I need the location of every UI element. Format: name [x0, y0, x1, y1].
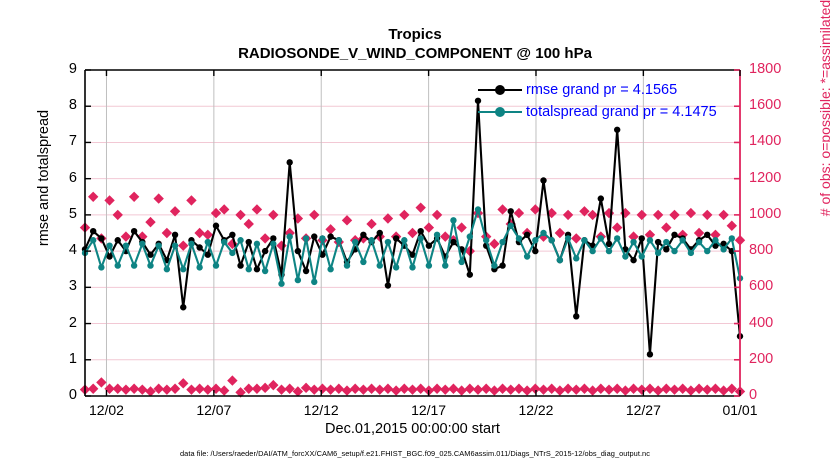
obs-marker: [571, 233, 581, 243]
obs-marker: [628, 384, 638, 394]
series-point: [663, 239, 669, 245]
series-point: [606, 248, 612, 254]
series-point: [229, 232, 235, 238]
obs-marker: [227, 375, 237, 385]
series-point: [671, 248, 677, 254]
series-point: [327, 266, 333, 272]
obs-marker: [604, 384, 614, 394]
series-point: [647, 351, 653, 357]
obs-marker: [350, 384, 360, 394]
series-point: [508, 223, 514, 229]
obs-marker: [88, 192, 98, 202]
series-point: [385, 282, 391, 288]
obs-marker: [235, 210, 245, 220]
obs-marker: [366, 219, 376, 229]
legend: rmse grand pr = 4.1565 totalspread grand…: [478, 79, 717, 123]
series-point: [524, 232, 530, 238]
series-point: [450, 239, 456, 245]
obs-marker: [686, 208, 696, 218]
series-point: [712, 237, 718, 243]
series-point: [491, 262, 497, 268]
series-point: [532, 237, 538, 243]
obs-marker: [194, 228, 204, 238]
obs-marker: [317, 384, 327, 394]
series-point: [573, 313, 579, 319]
series-point: [254, 266, 260, 272]
series-point: [598, 195, 604, 201]
series-point: [360, 259, 366, 265]
obs-marker: [456, 385, 466, 395]
series-point: [295, 277, 301, 283]
obs-marker: [325, 384, 335, 394]
obs-marker: [489, 385, 499, 395]
series-point: [442, 262, 448, 268]
series-point: [246, 239, 252, 245]
obs-marker: [620, 385, 630, 395]
series-point: [426, 242, 432, 248]
obs-marker: [555, 385, 565, 395]
obs-marker: [481, 384, 491, 394]
series-point: [278, 281, 284, 287]
series-point: [663, 246, 669, 252]
series-point: [377, 230, 383, 236]
obs-marker: [113, 384, 123, 394]
series-point: [139, 241, 145, 247]
series-point: [196, 264, 202, 270]
series-point: [516, 235, 522, 241]
obs-marker: [375, 384, 385, 394]
series-point: [589, 248, 595, 254]
series-point: [213, 223, 219, 229]
obs-marker: [497, 204, 507, 214]
obs-marker: [702, 384, 712, 394]
series-point: [270, 241, 276, 247]
obs-marker: [121, 384, 131, 394]
series-point: [639, 235, 645, 241]
obs-marker: [260, 383, 270, 393]
series-point: [467, 233, 473, 239]
series-point: [303, 268, 309, 274]
series-point: [360, 232, 366, 238]
series-line: [85, 101, 740, 355]
obs-marker: [587, 385, 597, 395]
series-point: [286, 233, 292, 239]
series-point: [352, 239, 358, 245]
obs-marker: [399, 210, 409, 220]
series-point: [532, 248, 538, 254]
obs-marker: [514, 208, 524, 218]
obs-marker: [268, 210, 278, 220]
obs-marker: [309, 210, 319, 220]
series-point: [639, 253, 645, 259]
series-point: [499, 262, 505, 268]
obs-marker: [514, 384, 524, 394]
series-point: [90, 228, 96, 234]
obs-marker: [718, 210, 728, 220]
obs-marker: [88, 384, 98, 394]
obs-marker: [399, 384, 409, 394]
obs-marker: [178, 378, 188, 388]
series-point: [696, 239, 702, 245]
obs-marker: [145, 386, 155, 396]
obs-marker: [579, 384, 589, 394]
obs-marker: [268, 380, 278, 390]
obs-marker: [596, 384, 606, 394]
obs-marker: [219, 385, 229, 395]
series-point: [262, 248, 268, 254]
obs-marker: [383, 384, 393, 394]
series-point: [147, 262, 153, 268]
series-point: [630, 239, 636, 245]
obs-marker: [604, 208, 614, 218]
series-point: [254, 241, 260, 247]
series-point: [630, 257, 636, 263]
series-point: [172, 242, 178, 248]
obs-marker: [366, 384, 376, 394]
series-point: [671, 232, 677, 238]
obs-marker: [194, 384, 204, 394]
series-point: [393, 264, 399, 270]
series-point: [598, 235, 604, 241]
obs-marker: [342, 385, 352, 395]
obs-marker: [424, 222, 434, 232]
series-point: [106, 242, 112, 248]
obs-marker: [113, 210, 123, 220]
obs-marker: [506, 384, 516, 394]
obs-marker: [653, 210, 663, 220]
series-point: [115, 237, 121, 243]
series-point: [123, 242, 129, 248]
series-point: [172, 232, 178, 238]
obs-marker: [497, 384, 507, 394]
series-point: [622, 253, 628, 259]
series-point: [720, 246, 726, 252]
series-point: [98, 264, 104, 270]
series-point: [401, 237, 407, 243]
obs-marker: [653, 385, 663, 395]
obs-marker: [186, 384, 196, 394]
series-point: [524, 253, 530, 259]
obs-marker: [710, 384, 720, 394]
obs-marker: [145, 217, 155, 227]
series-point: [540, 230, 546, 236]
series-point: [540, 177, 546, 183]
obs-marker: [334, 384, 344, 394]
legend-swatch-rmse: [478, 83, 522, 97]
series-point: [688, 250, 694, 256]
series-point: [164, 266, 170, 272]
series-point: [237, 237, 243, 243]
legend-label-rmse: rmse grand pr = 4.1565: [526, 82, 677, 98]
series-point: [614, 235, 620, 241]
obs-marker: [170, 384, 180, 394]
series-point: [467, 271, 473, 277]
obs-marker: [473, 384, 483, 394]
series-point: [90, 237, 96, 243]
series-point: [704, 248, 710, 254]
obs-marker: [342, 215, 352, 225]
series-point: [336, 237, 342, 243]
series-point: [450, 217, 456, 223]
obs-marker: [661, 222, 671, 232]
obs-marker: [571, 384, 581, 394]
series-point: [458, 259, 464, 265]
legend-item-totalspread[interactable]: totalspread grand pr = 4.1475: [478, 101, 717, 123]
series-point: [180, 304, 186, 310]
obs-marker: [440, 384, 450, 394]
obs-marker: [702, 210, 712, 220]
obs-marker: [637, 210, 647, 220]
series-point: [655, 239, 661, 245]
series-point: [434, 232, 440, 238]
obs-marker: [284, 384, 294, 394]
obs-marker: [612, 222, 622, 232]
series-point: [417, 228, 423, 234]
legend-swatch-totalspread: [478, 105, 522, 119]
series-point: [729, 235, 735, 241]
series-point: [377, 262, 383, 268]
series-rmse: [82, 98, 743, 358]
obs-marker: [137, 384, 147, 394]
obs-marker: [415, 202, 425, 212]
series-point: [229, 250, 235, 256]
series-point: [655, 250, 661, 256]
obs-marker: [358, 384, 368, 394]
series-point: [704, 232, 710, 238]
series-point: [131, 228, 137, 234]
series-point: [344, 262, 350, 268]
obs-marker: [522, 385, 532, 395]
series-point: [426, 262, 432, 268]
series-point: [409, 264, 415, 270]
obs-marker: [727, 384, 737, 394]
series-point: [295, 248, 301, 254]
obs-marker: [244, 219, 254, 229]
obs-marker: [203, 384, 213, 394]
obs-marker: [637, 384, 647, 394]
series-point: [131, 262, 137, 268]
obs-marker: [260, 233, 270, 243]
obs-marker: [96, 377, 106, 387]
obs-marker: [162, 228, 172, 238]
obs-marker: [415, 384, 425, 394]
obs-marker: [448, 384, 458, 394]
obs-marker: [407, 228, 417, 238]
series-point: [565, 235, 571, 241]
series-point: [319, 235, 325, 241]
plot-area: [0, 0, 830, 470]
series-point: [573, 255, 579, 261]
obs-marker: [546, 384, 556, 394]
series-point: [647, 237, 653, 243]
obs-marker: [694, 384, 704, 394]
obs-marker: [686, 385, 696, 395]
series-point: [155, 242, 161, 248]
obs-marker: [252, 204, 262, 214]
series-point: [303, 235, 309, 241]
obs-marker: [432, 210, 442, 220]
obs-marker: [325, 224, 335, 234]
series-point: [286, 159, 292, 165]
series-point: [311, 233, 317, 239]
series-point: [499, 239, 505, 245]
obs-marker: [661, 384, 671, 394]
series-point: [475, 206, 481, 212]
obs-marker: [153, 384, 163, 394]
series-point: [679, 237, 685, 243]
series-point: [548, 237, 554, 243]
obs-marker: [276, 240, 286, 250]
series-point: [393, 235, 399, 241]
obs-marker: [407, 384, 417, 394]
obs-marker: [391, 385, 401, 395]
series-point: [115, 262, 121, 268]
series-point: [221, 239, 227, 245]
legend-item-rmse[interactable]: rmse grand pr = 4.1565: [478, 79, 717, 101]
obs-marker: [456, 222, 466, 232]
obs-marker: [162, 384, 172, 394]
series-point: [508, 208, 514, 214]
series-point: [246, 266, 252, 272]
obs-marker: [669, 210, 679, 220]
obs-marker: [129, 192, 139, 202]
obs-marker: [555, 228, 565, 238]
obs-marker: [309, 384, 319, 394]
series-point: [188, 241, 194, 247]
series-point: [205, 252, 211, 258]
obs-marker: [612, 384, 622, 394]
series-point: [262, 268, 268, 274]
obs-marker: [538, 384, 548, 394]
series-point: [180, 266, 186, 272]
obs-marker: [563, 384, 573, 394]
series-point: [557, 257, 563, 263]
legend-label-totalspread: totalspread grand pr = 4.1475: [526, 104, 717, 120]
series-point: [311, 279, 317, 285]
series-point: [205, 239, 211, 245]
obs-marker: [186, 195, 196, 205]
obs-marker: [645, 384, 655, 394]
obs-marker: [727, 221, 737, 231]
series-point: [327, 233, 333, 239]
series-point: [368, 237, 374, 243]
obs-marker: [178, 240, 188, 250]
obs-marker: [129, 384, 139, 394]
obs-marker: [252, 384, 262, 394]
series-point: [213, 262, 219, 268]
obs-marker: [432, 384, 442, 394]
series-point: [196, 244, 202, 250]
obs-marker: [153, 193, 163, 203]
series-point: [385, 239, 391, 245]
obs-marker: [718, 385, 728, 395]
obs-marker: [489, 239, 499, 249]
obs-marker: [669, 384, 679, 394]
series-point: [237, 262, 243, 268]
obs-marker: [465, 384, 475, 394]
series-point: [581, 237, 587, 243]
obs-marker: [677, 384, 687, 394]
series-point: [614, 127, 620, 133]
obs-marker: [211, 384, 221, 394]
obs-marker: [104, 195, 114, 205]
obs-marker: [563, 210, 573, 220]
figure-root: Tropics RADIOSONDE_V_WIND_COMPONENT @ 10…: [0, 0, 830, 470]
series-point: [417, 235, 423, 241]
series-point: [483, 237, 489, 243]
series-point: [98, 235, 104, 241]
obs-marker: [276, 384, 286, 394]
